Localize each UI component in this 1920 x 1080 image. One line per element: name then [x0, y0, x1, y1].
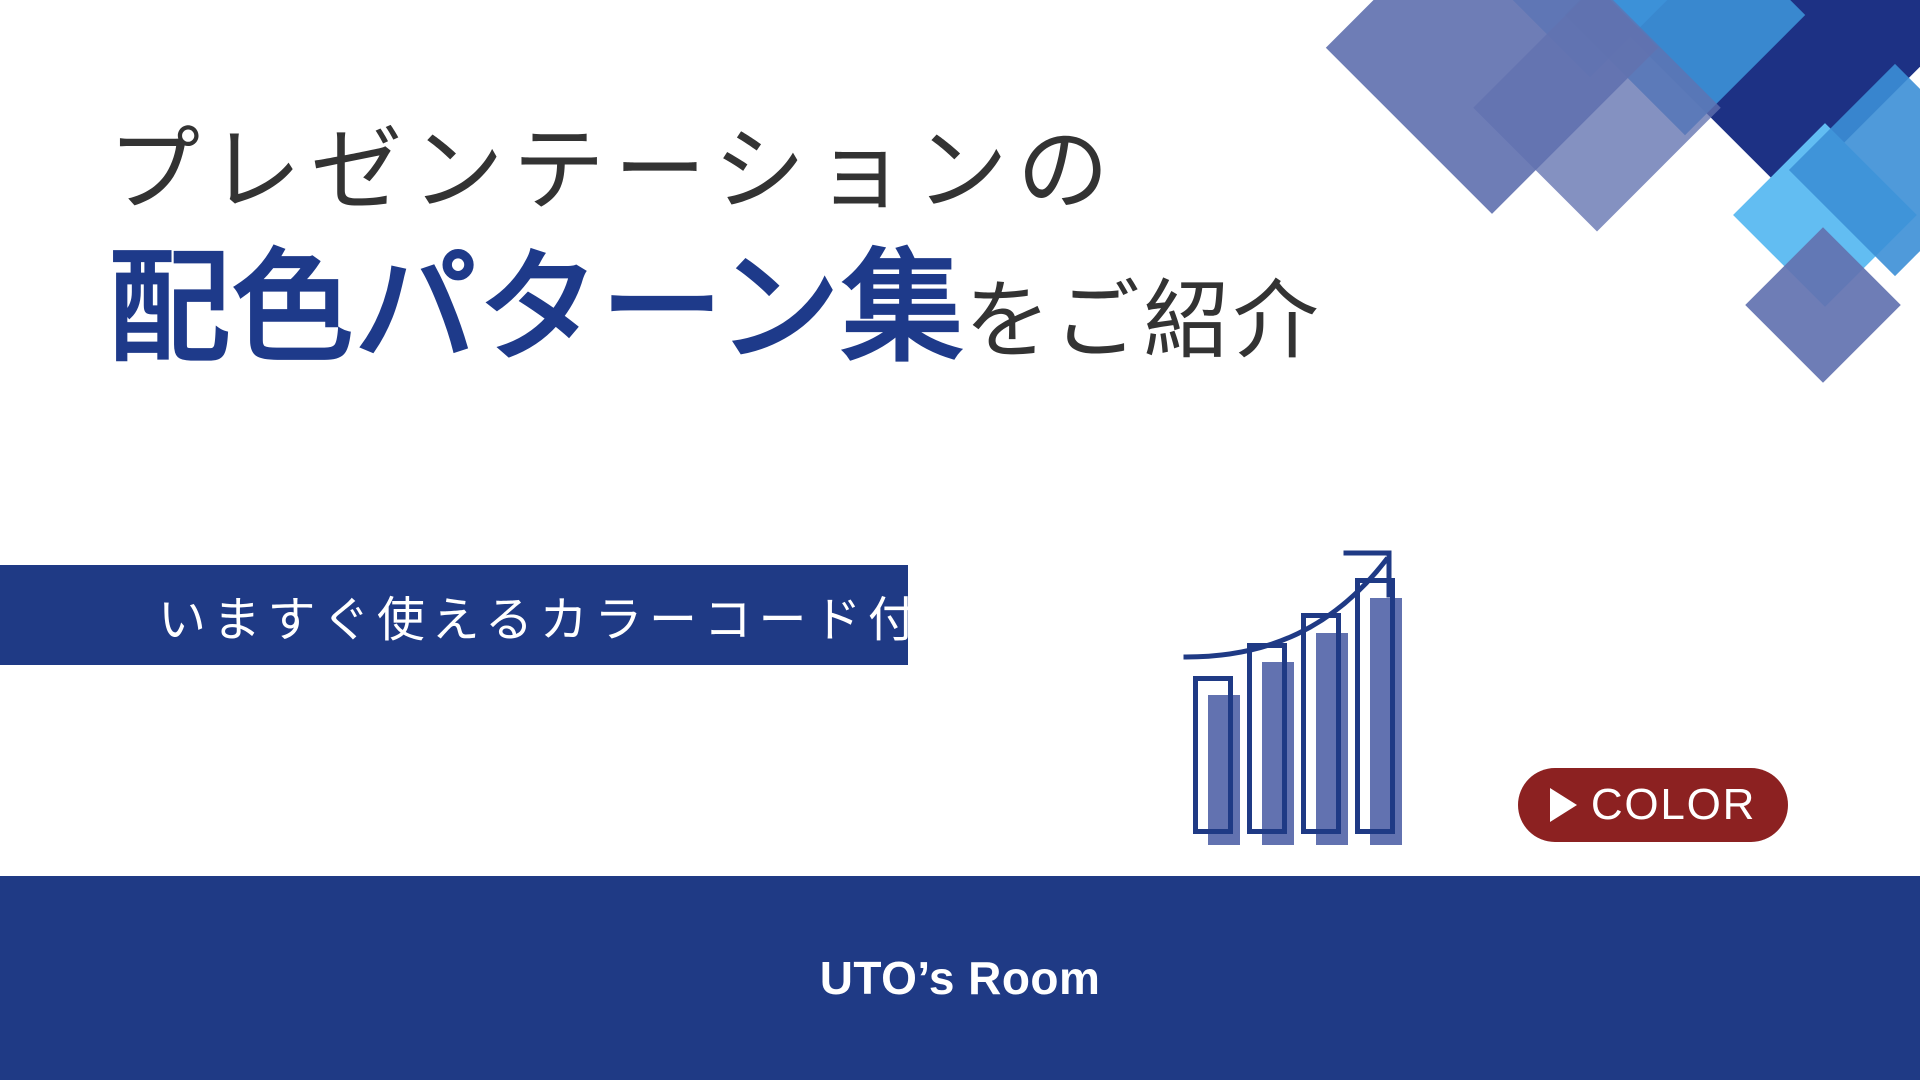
subtitle-ribbon: いますぐ使えるカラーコード付き: [0, 565, 908, 665]
ribbon-label: いますぐ使えるカラーコード付き: [158, 580, 977, 650]
footer-band: UTO’s Room: [0, 876, 1920, 1080]
headline-block: プレゼンテーションの 配色パターン集をご紹介: [108, 120, 1428, 375]
growth-bar-chart-illustration: [1178, 535, 1418, 845]
title-accent-text: 配色パターン集: [108, 240, 964, 376]
title-tail-text: をご紹介: [964, 273, 1322, 369]
title-line-2: 配色パターン集をご紹介: [108, 241, 1428, 375]
play-triangle-icon: [1550, 788, 1577, 822]
color-badge[interactable]: COLOR: [1518, 768, 1788, 842]
color-badge-label: COLOR: [1591, 780, 1756, 830]
footer-brand-label: UTO’s Room: [820, 951, 1101, 1005]
title-line-1: プレゼンテーションの: [108, 120, 1428, 223]
slide-canvas: プレゼンテーションの 配色パターン集をご紹介 いますぐ使えるカラーコード付き: [0, 0, 1920, 1080]
